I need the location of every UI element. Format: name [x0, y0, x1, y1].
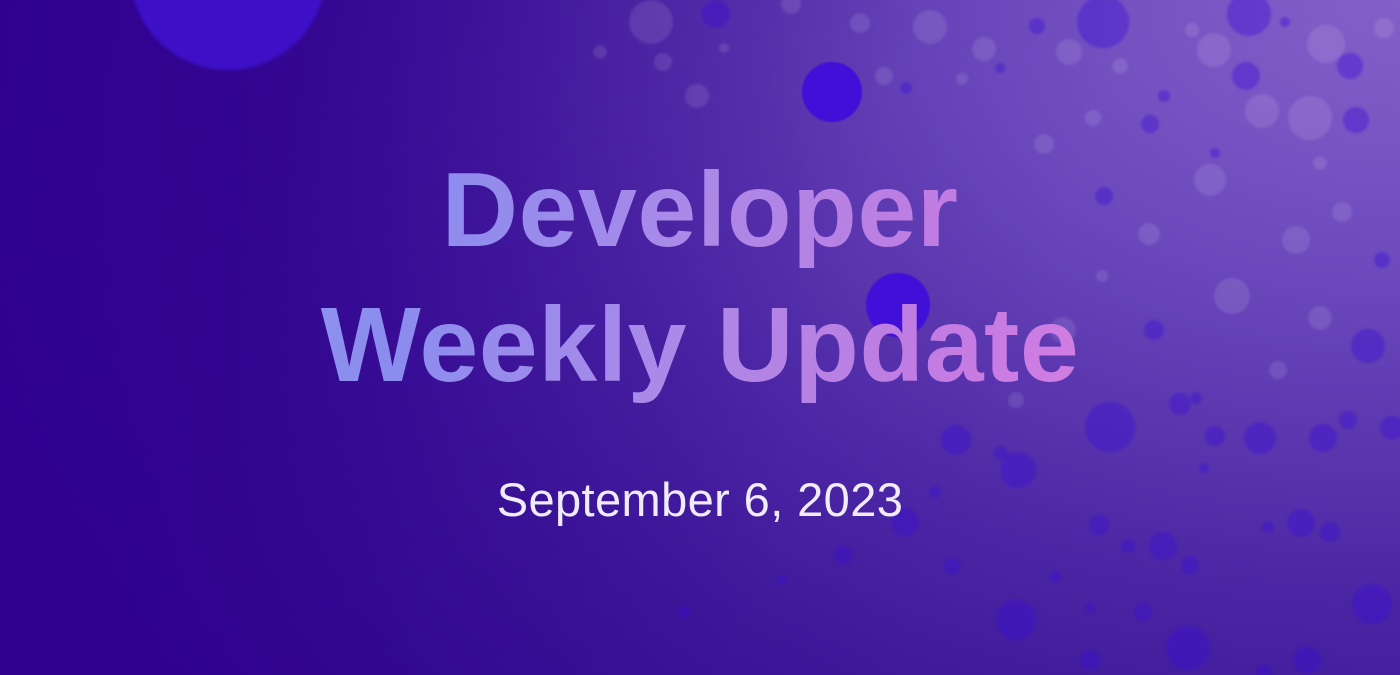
page-title: Developer Weekly Update: [315, 148, 1086, 408]
title-line-weekly-update: Weekly Update: [321, 283, 1080, 408]
title-line-developer: Developer: [321, 148, 1080, 273]
issue-date: September 6, 2023: [497, 472, 904, 527]
banner-content: Developer Weekly Update September 6, 202…: [0, 0, 1400, 675]
weekly-update-banner: Developer Weekly Update September 6, 202…: [0, 0, 1400, 675]
